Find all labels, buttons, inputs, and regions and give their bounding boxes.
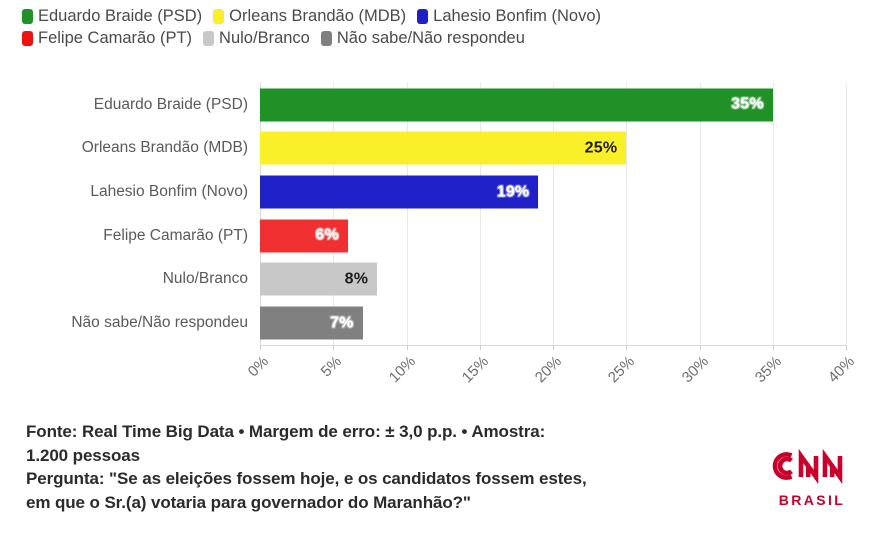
footer-notes: Fonte: Real Time Big Data • Margem de er…	[26, 420, 756, 514]
footer-line-3: Pergunta: "Se as eleições fossem hoje, e…	[26, 467, 756, 491]
chart-legend: Eduardo Braide (PSD)Orleans Brandão (MDB…	[22, 5, 862, 49]
chart-bar[interactable]: 7%	[260, 307, 363, 340]
legend-row-1: Eduardo Braide (PSD)Orleans Brandão (MDB…	[22, 5, 862, 27]
legend-item[interactable]: Orleans Brandão (MDB)	[213, 8, 406, 25]
category-label: Não sabe/Não respondeu	[0, 314, 248, 332]
bar-value-label: 19%	[497, 183, 530, 201]
chart-row: Não sabe/Não respondeu7%	[0, 301, 877, 345]
chart-bar[interactable]: 19%	[260, 176, 538, 209]
chart-row: Nulo/Branco8%	[0, 258, 877, 302]
chart-row: Eduardo Braide (PSD)35%	[0, 83, 877, 127]
legend-item-label: Não sabe/Não respondeu	[337, 30, 525, 47]
chart-bar[interactable]: 35%	[260, 88, 773, 121]
x-axis-tick	[700, 345, 701, 350]
x-axis-tick	[407, 345, 408, 350]
bar-value-label: 8%	[345, 270, 369, 288]
legend-item-label: Eduardo Braide (PSD)	[38, 8, 202, 25]
legend-item[interactable]: Lahesio Bonfim (Novo)	[417, 8, 601, 25]
legend-item-label: Orleans Brandão (MDB)	[229, 8, 406, 25]
category-label: Nulo/Branco	[0, 270, 248, 288]
category-label: Felipe Camarão (PT)	[0, 227, 248, 245]
bar-value-label: 6%	[315, 227, 339, 245]
legend-item[interactable]: Felipe Camarão (PT)	[22, 30, 192, 47]
x-axis-tick	[626, 345, 627, 350]
category-label: Lahesio Bonfim (Novo)	[0, 183, 248, 201]
logo-subtitle: BRASIL	[762, 492, 862, 508]
legend-row-2: Felipe Camarão (PT)Nulo/BrancoNão sabe/N…	[22, 27, 862, 49]
x-axis-tick	[846, 345, 847, 350]
cnn-brasil-logo: BRASIL	[762, 447, 862, 508]
legend-item[interactable]: Nulo/Branco	[203, 30, 310, 47]
legend-color-swatch-icon	[213, 9, 224, 24]
legend-color-swatch-icon	[22, 31, 33, 46]
chart-row: Lahesio Bonfim (Novo)19%	[0, 170, 877, 214]
legend-item[interactable]: Eduardo Braide (PSD)	[22, 8, 202, 25]
x-axis-tick	[553, 345, 554, 350]
bar-value-label: 35%	[731, 96, 764, 114]
category-label: Orleans Brandão (MDB)	[0, 139, 248, 157]
legend-item-label: Felipe Camarão (PT)	[38, 30, 192, 47]
legend-color-swatch-icon	[203, 31, 214, 46]
bar-chart: 0%5%10%15%20%25%30%35%40%Eduardo Braide …	[0, 60, 877, 410]
category-label: Eduardo Braide (PSD)	[0, 96, 248, 114]
chart-row: Orleans Brandão (MDB)25%	[0, 127, 877, 171]
bar-value-label: 7%	[330, 314, 354, 332]
chart-row: Felipe Camarão (PT)6%	[0, 214, 877, 258]
chart-bar[interactable]: 25%	[260, 132, 626, 165]
x-axis-tick	[773, 345, 774, 350]
cnn-logo-icon	[762, 447, 862, 490]
x-axis-tick	[333, 345, 334, 350]
bar-value-label: 25%	[585, 139, 618, 157]
legend-color-swatch-icon	[321, 31, 332, 46]
footer-line-4: em que o Sr.(a) votaria para governador …	[26, 491, 756, 515]
x-axis-tick	[480, 345, 481, 350]
legend-color-swatch-icon	[22, 9, 33, 24]
chart-bar[interactable]: 8%	[260, 263, 377, 296]
legend-item-label: Lahesio Bonfim (Novo)	[433, 8, 601, 25]
legend-color-swatch-icon	[417, 9, 428, 24]
legend-item-label: Nulo/Branco	[219, 30, 310, 47]
x-axis-tick	[260, 345, 261, 350]
footer-line-2: 1.200 pessoas	[26, 444, 756, 468]
legend-item[interactable]: Não sabe/Não respondeu	[321, 30, 525, 47]
chart-bar[interactable]: 6%	[260, 219, 348, 252]
footer-line-1: Fonte: Real Time Big Data • Margem de er…	[26, 420, 756, 444]
